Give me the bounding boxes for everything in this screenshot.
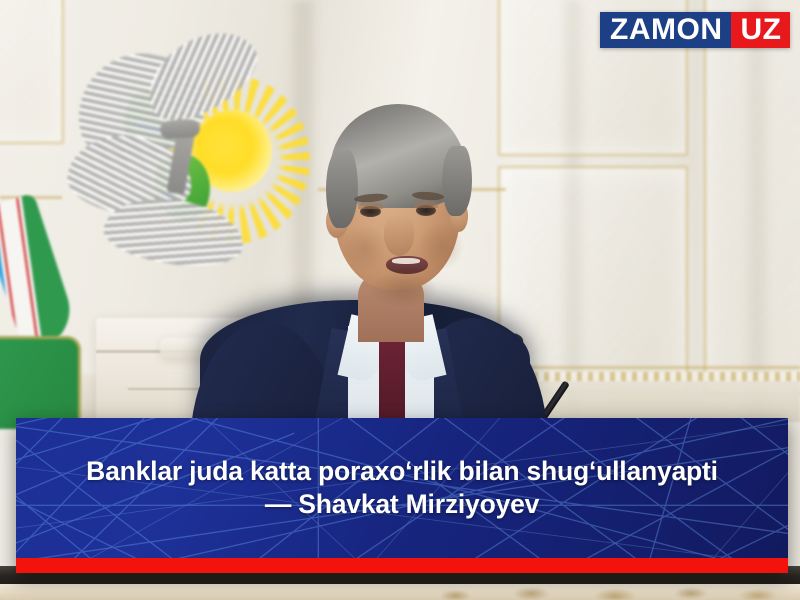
caption-banner: Banklar juda katta poraxo‘rlik bilan shu…	[16, 418, 788, 558]
caption-line-1: Banklar juda katta poraxo‘rlik bilan shu…	[86, 455, 718, 488]
speaker-cheek-shadow-left	[342, 224, 388, 272]
flag-lower-green-panel	[0, 336, 81, 429]
speaker-chin-shadow	[368, 272, 438, 308]
caption-banner-wrapper: Banklar juda katta poraxo‘rlik bilan shu…	[16, 418, 788, 573]
speaker-hair-side-right	[442, 146, 472, 216]
emblem-bird-head	[159, 119, 200, 140]
logo-uz-text: UZ	[731, 12, 790, 48]
speaker-eyelid-right	[414, 201, 438, 208]
caption-line-2: — Shavkat Mirziyoyev	[86, 488, 718, 521]
speaker-hair-side-left	[326, 150, 358, 228]
caption-text-block: Banklar juda katta poraxo‘rlik bilan shu…	[72, 455, 732, 522]
flag-drape	[0, 193, 80, 354]
news-photo-card: ZAMON UZ	[0, 0, 800, 600]
table-carved-ornament	[380, 586, 800, 600]
wall-panel-far-right	[704, 0, 800, 394]
logo-zamon-text: ZAMON	[600, 12, 731, 48]
speaker-eyelid-left	[358, 202, 383, 209]
caption-red-rule	[16, 558, 788, 573]
zamon-uz-logo[interactable]: ZAMON UZ	[600, 12, 790, 48]
speaker-nose	[384, 214, 414, 256]
speaker-teeth	[392, 258, 420, 264]
